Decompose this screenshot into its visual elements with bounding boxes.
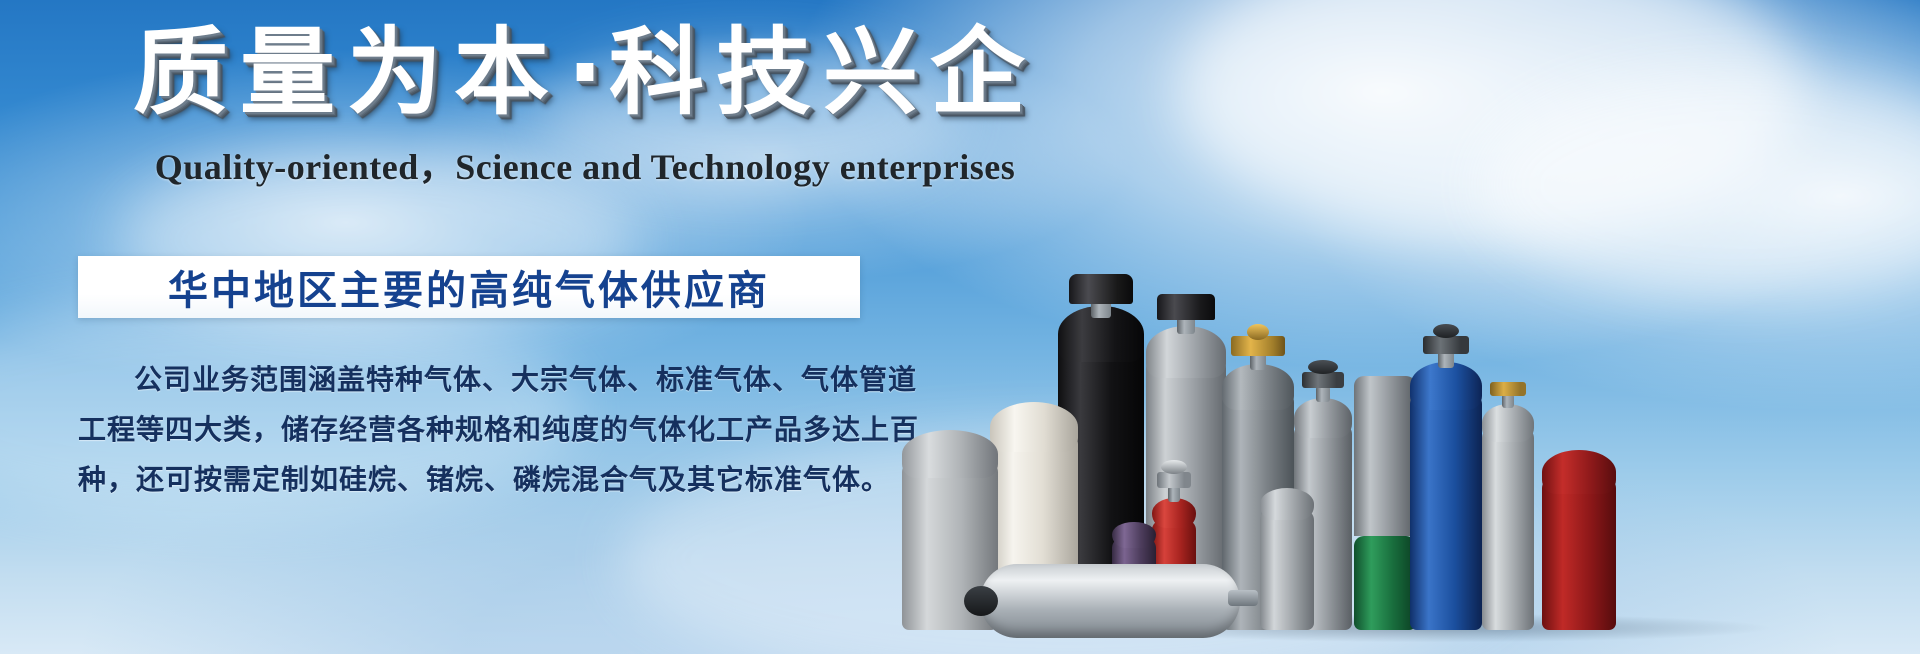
tank-shell — [980, 564, 1240, 638]
aluminium-cylinder — [1482, 380, 1534, 630]
cylinder-cap — [1157, 294, 1215, 320]
cylinder-valve — [1302, 372, 1344, 388]
main-title-part-2: 科技兴企 — [609, 18, 1037, 128]
valve-knob — [1161, 460, 1187, 474]
paragraph-line-1: 公司业务范围涵盖特种气体、大宗气体、标准气体、气体管道 — [78, 356, 898, 406]
valve-knob — [1433, 324, 1459, 338]
cylinder-valve — [1490, 382, 1526, 396]
tank-end-cap — [964, 586, 998, 616]
gas-cylinder-group-photo — [960, 234, 1920, 654]
description-paragraph: 公司业务范围涵盖特种气体、大宗气体、标准气体、气体管道 工程等四大类，储存经营各… — [78, 356, 898, 506]
cloud-decoration — [1180, 0, 1800, 240]
cylinder-valve — [1157, 472, 1191, 488]
cylinder-valve — [1423, 336, 1469, 354]
horizontal-tank — [980, 564, 1240, 638]
tank-nozzle — [1228, 590, 1258, 606]
aluminium-cylinder — [1260, 480, 1314, 630]
tagline-text: 华中地区主要的高纯气体供应商 — [168, 258, 770, 316]
valve-knob — [1247, 324, 1269, 340]
page-subtitle: Quality-oriented，Science and Technology … — [0, 138, 1170, 190]
headline-block: 质量为本·科技兴企 Quality-oriented，Science and T… — [0, 16, 1170, 190]
dark-red-cylinder — [1542, 444, 1616, 630]
paragraph-line-2: 工程等四大类，储存经营各种规格和纯度的气体化工产品多达上百 — [78, 406, 898, 456]
green-base-cylinder — [1354, 424, 1416, 630]
page-title: 质量为本·科技兴企 — [0, 16, 1170, 132]
main-title-part-1: 质量为本 — [133, 18, 561, 128]
paragraph-line-3: 种，还可按需定制如硅烷、锗烷、磷烷混合气及其它标准气体。 — [78, 456, 898, 506]
cylinder-cap — [1069, 274, 1133, 304]
tagline-callout-box: 华中地区主要的高纯气体供应商 — [78, 256, 860, 318]
blue-tall-cylinder — [1410, 330, 1482, 630]
valve-knob — [1308, 360, 1338, 374]
main-title-separator-dot: · — [561, 18, 609, 128]
promotional-banner: 质量为本·科技兴企 Quality-oriented，Science and T… — [0, 0, 1920, 654]
